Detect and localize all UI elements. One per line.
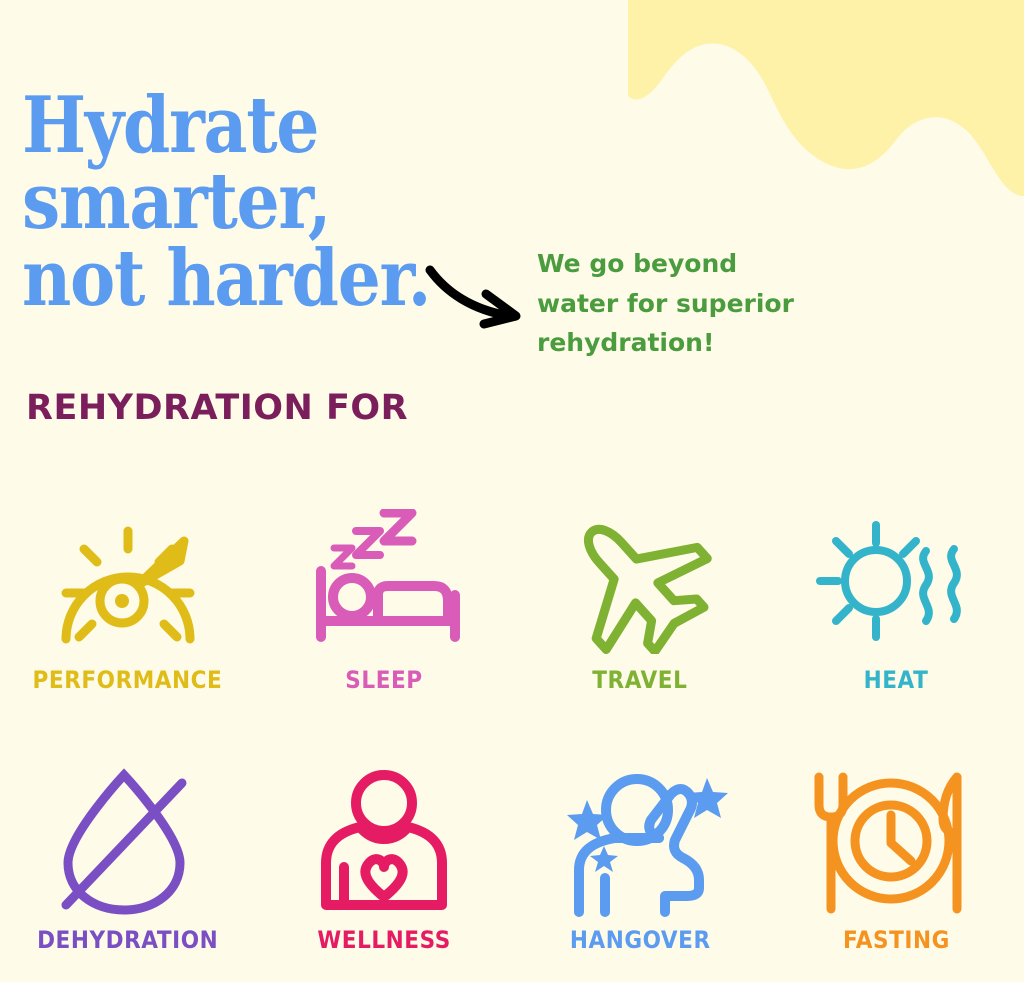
curved-arrow-icon: [424, 262, 534, 330]
person-headache-stars-icon: [559, 758, 729, 926]
rehydration-use-case-grid: PERFORMANCE: [0, 496, 1024, 982]
plate-clock-utensils-icon: [805, 758, 975, 926]
section-heading: REHYDRATION FOR: [26, 388, 408, 428]
grid-cell-hangover[interactable]: HANGOVER: [512, 758, 768, 982]
grid-cell-label: SLEEP: [345, 666, 422, 694]
grid-cell-label: WELLNESS: [317, 926, 450, 954]
sun-heat-waves-icon: [810, 496, 970, 666]
bed-sleep-icon: [308, 496, 468, 666]
grid-cell-label: HEAT: [864, 666, 929, 694]
grid-cell-travel[interactable]: TRAVEL: [512, 496, 768, 758]
person-heart-icon: [304, 758, 464, 926]
poster-canvas: Hydrate smarter, not harder. We go beyon…: [0, 0, 1024, 982]
callout-text: We go beyond water for superior rehydrat…: [537, 244, 837, 363]
grid-cell-sleep[interactable]: SLEEP: [256, 496, 512, 758]
grid-cell-fasting[interactable]: FASTING: [768, 758, 1024, 982]
grid-cell-wellness[interactable]: WELLNESS: [256, 758, 512, 982]
grid-cell-label: DEHYDRATION: [37, 926, 218, 954]
grid-cell-label: FASTING: [843, 926, 950, 954]
grid-row: PERFORMANCE: [0, 496, 1024, 758]
no-water-drop-icon: [44, 758, 204, 926]
grid-cell-heat[interactable]: HEAT: [768, 496, 1024, 758]
grid-cell-label: HANGOVER: [570, 926, 711, 954]
blob-shape: [628, 0, 1024, 196]
grid-cell-performance[interactable]: PERFORMANCE: [0, 496, 256, 758]
grid-row: DEHYDRATION WELLNESS: [0, 758, 1024, 982]
grid-cell-dehydration[interactable]: DEHYDRATION: [0, 758, 256, 982]
grid-cell-label: TRAVEL: [592, 666, 687, 694]
grid-cell-label: PERFORMANCE: [32, 666, 222, 694]
speedometer-icon: [48, 496, 208, 666]
airplane-icon: [556, 496, 716, 666]
